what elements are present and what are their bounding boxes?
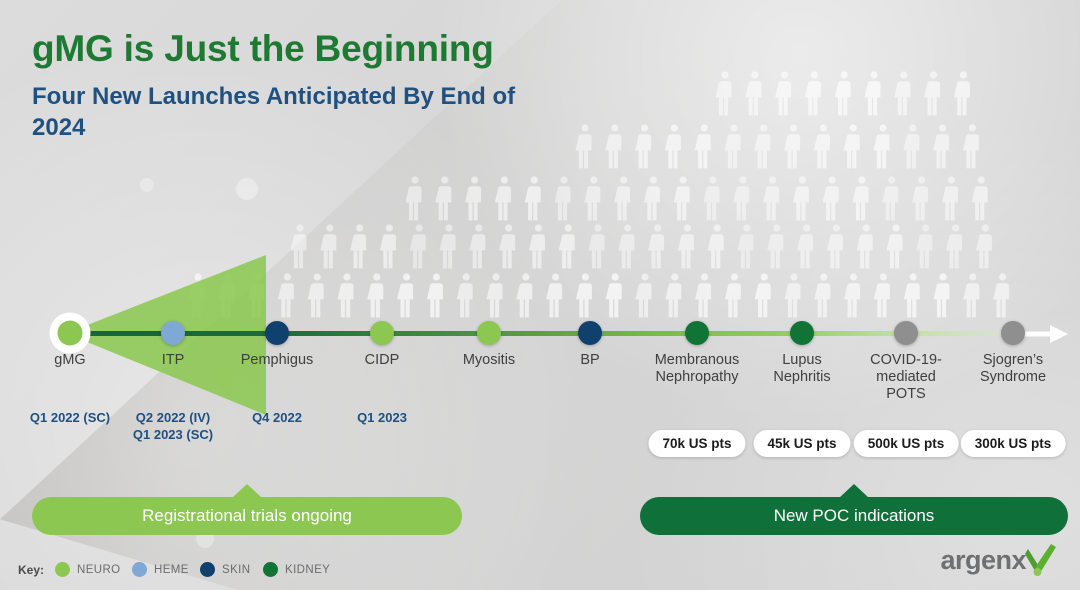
person-icon (814, 273, 830, 317)
person-icon (469, 224, 485, 268)
person-icon (844, 273, 860, 317)
timeline-axis (66, 331, 1016, 336)
person-icon (614, 176, 630, 220)
timeline-label: Lupus Nephritis (743, 352, 861, 386)
person-icon (725, 273, 741, 317)
timeline-label: Pemphigus (218, 352, 336, 369)
page-subtitle: Four New Launches Anticipated By End of … (32, 82, 552, 144)
key-color-swatch (263, 562, 278, 577)
person-icon (559, 224, 575, 268)
person-icon (525, 176, 541, 220)
ribbon-notch-icon (232, 484, 262, 498)
person-icon (338, 273, 354, 317)
timeline-label: gMG (11, 352, 129, 369)
person-icon (754, 124, 770, 168)
person-icon (320, 224, 336, 268)
patient-count-pill: 45k US pts (753, 430, 850, 457)
person-icon (904, 273, 920, 317)
argenx-logo: argenx (940, 543, 1058, 574)
person-icon (737, 224, 753, 268)
person-icon (350, 224, 366, 268)
timeline-dot-covid-19-mediated-pots[interactable] (894, 321, 918, 345)
person-icon (516, 273, 532, 317)
person-icon (954, 71, 970, 115)
person-icon (606, 273, 622, 317)
key-color-swatch (132, 562, 147, 577)
person-icon (588, 224, 604, 268)
person-icon (291, 224, 307, 268)
person-icon (775, 71, 791, 115)
patient-count-pill: 300k US pts (961, 430, 1066, 457)
person-icon (605, 124, 621, 168)
ribbon-label: New POC indications (774, 506, 935, 526)
person-icon (440, 224, 456, 268)
person-icon (933, 273, 949, 317)
key-item-label: SKIN (222, 564, 250, 576)
page-title: gMG is Just the Beginning (32, 28, 494, 70)
person-icon (435, 176, 451, 220)
timeline-dot-cidp[interactable] (370, 321, 394, 345)
person-icon (874, 273, 890, 317)
person-icon (993, 273, 1009, 317)
ribbon-banner: Registrational trials ongoing (32, 497, 462, 535)
person-icon (695, 273, 711, 317)
person-icon (584, 176, 600, 220)
person-icon (457, 273, 473, 317)
key-item-kidney: KIDNEY (263, 562, 330, 577)
person-icon (576, 273, 592, 317)
timeline-label: ITP (114, 352, 232, 369)
timeline-label: COVID-19- mediated POTS (847, 352, 965, 403)
person-icon (963, 124, 979, 168)
slide-canvas: gMG is Just the Beginning Four New Launc… (0, 0, 1080, 590)
person-icon (695, 124, 711, 168)
person-icon (427, 273, 443, 317)
bokeh-2 (140, 178, 154, 192)
key-color-swatch (200, 562, 215, 577)
person-icon (678, 224, 694, 268)
person-icon (827, 224, 843, 268)
person-icon (903, 124, 919, 168)
person-icon (763, 176, 779, 220)
person-icon (635, 124, 651, 168)
person-icon (278, 273, 294, 317)
person-icon (397, 273, 413, 317)
person-icon (823, 176, 839, 220)
person-icon (745, 71, 761, 115)
person-icon (933, 124, 949, 168)
person-icon (755, 273, 771, 317)
person-icon (495, 176, 511, 220)
key-item-label: HEME (154, 564, 189, 576)
person-icon (857, 224, 873, 268)
person-icon (618, 224, 634, 268)
person-icon (406, 176, 422, 220)
person-icon (529, 224, 545, 268)
key-item-label: NEURO (77, 564, 121, 576)
person-icon (665, 273, 681, 317)
timeline-dot-membranous-nephropathy[interactable] (685, 321, 709, 345)
person-icon (916, 224, 932, 268)
ribbon-banner: New POC indications (640, 497, 1068, 535)
person-icon (924, 71, 940, 115)
person-icon (410, 224, 426, 268)
person-icon (733, 176, 749, 220)
person-icon (852, 176, 868, 220)
timeline-label: CIDP (323, 352, 441, 369)
timeline-dot-bp[interactable] (578, 321, 602, 345)
logo-wordmark: argenx (940, 547, 1026, 574)
check-mark-icon (1024, 543, 1058, 577)
ribbon-label: Registrational trials ongoing (142, 506, 352, 526)
person-icon (554, 176, 570, 220)
person-icon (665, 124, 681, 168)
person-icon (308, 273, 324, 317)
person-icon (844, 124, 860, 168)
key-item-heme: HEME (132, 562, 189, 577)
timeline-dot-pemphigus[interactable] (265, 321, 289, 345)
person-icon (976, 224, 992, 268)
timeline-dot-gmg[interactable] (58, 321, 83, 346)
person-icon (963, 273, 979, 317)
person-icon (724, 124, 740, 168)
person-icon (715, 71, 731, 115)
bokeh-1 (236, 178, 258, 200)
person-icon (972, 176, 988, 220)
timeline-dot-myositis[interactable] (477, 321, 501, 345)
person-icon (575, 124, 591, 168)
timeline-dot-lupus-nephritis[interactable] (790, 321, 814, 345)
patient-count-pill: 70k US pts (648, 430, 745, 457)
timeline-label: Membranous Nephropathy (638, 352, 756, 386)
key-item-label: KIDNEY (285, 564, 330, 576)
timeline-date: Q1 2023 (317, 410, 447, 427)
person-icon (648, 224, 664, 268)
person-icon (644, 176, 660, 220)
person-icon (886, 224, 902, 268)
person-icon (767, 224, 783, 268)
patient-count-pill: 500k US pts (854, 430, 959, 457)
timeline-label: Sjogren’s Syndrome (954, 352, 1072, 386)
person-icon (499, 224, 515, 268)
ribbon-notch-icon (839, 484, 869, 498)
person-icon (674, 176, 690, 220)
person-icon (487, 273, 503, 317)
person-icon (797, 224, 813, 268)
person-icon (882, 176, 898, 220)
person-icon (873, 124, 889, 168)
person-icon (894, 71, 910, 115)
timeline-dot-sjogren-s-syndrome[interactable] (1001, 321, 1025, 345)
person-icon (367, 273, 383, 317)
person-icon (703, 176, 719, 220)
person-icon (465, 176, 481, 220)
key-item-skin: SKIN (200, 562, 250, 577)
person-icon (912, 176, 928, 220)
person-icon (708, 224, 724, 268)
person-icon (793, 176, 809, 220)
person-icon (546, 273, 562, 317)
timeline-label: BP (531, 352, 649, 369)
key-item-neuro: NEURO (55, 562, 121, 577)
person-icon (784, 124, 800, 168)
timeline-dot-itp[interactable] (161, 321, 185, 345)
person-icon (814, 124, 830, 168)
person-icon (784, 273, 800, 317)
person-icon (835, 71, 851, 115)
person-icon (942, 176, 958, 220)
person-icon (380, 224, 396, 268)
key-label: Key: (18, 563, 44, 577)
person-icon (805, 71, 821, 115)
key-color-swatch (55, 562, 70, 577)
person-icon (635, 273, 651, 317)
person-icon (864, 71, 880, 115)
person-icon (946, 224, 962, 268)
